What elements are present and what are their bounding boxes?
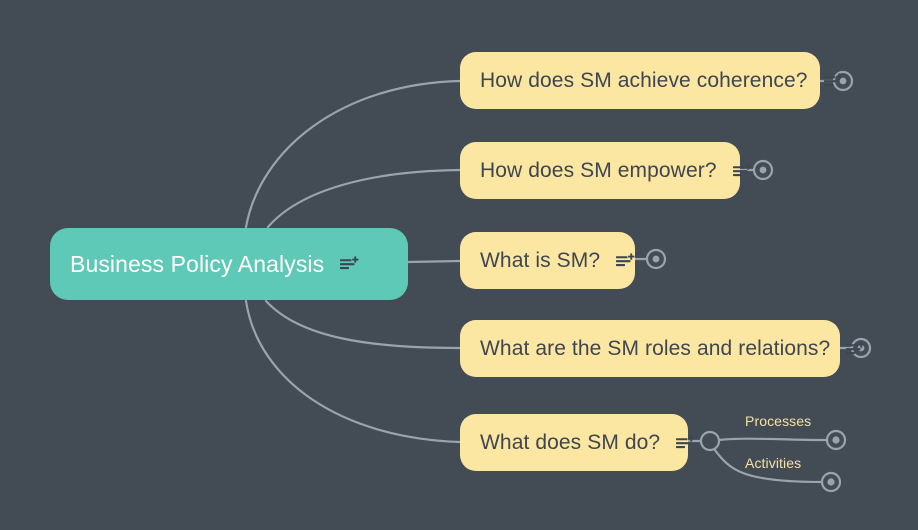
- edge-root-to-empower: [268, 170, 460, 227]
- connector-dot-processes-core: [832, 436, 839, 443]
- node-branch-what-does-sm-do[interactable]: What does SM do?: [460, 414, 688, 471]
- edge-root-to-coherence: [246, 81, 460, 227]
- connector-dot-empower-core: [760, 167, 767, 174]
- connector-dot-empower[interactable]: [754, 161, 772, 179]
- mindmap-canvas: Business Policy Analysis How does SM ach…: [0, 0, 918, 530]
- connector-dot-activities[interactable]: [822, 473, 840, 491]
- node-root-business-policy-analysis[interactable]: Business Policy Analysis: [50, 228, 408, 300]
- edge-root-to-whatdoes: [246, 301, 460, 442]
- leaf-label-activities[interactable]: Activities: [745, 455, 801, 471]
- edge-root-to-roles: [266, 301, 460, 348]
- node-root-label: Business Policy Analysis: [70, 251, 324, 278]
- connector-dot-whatissm-core: [653, 256, 660, 263]
- add-note-icon[interactable]: [676, 435, 695, 451]
- add-note-icon[interactable]: [733, 163, 752, 179]
- node-branch-what-is-sm[interactable]: What is SM?: [460, 232, 635, 289]
- edge-junction-to-processes: [719, 439, 827, 440]
- node-branch-how-does-sm-achieve-coherence[interactable]: How does SM achieve coherence?: [460, 52, 820, 109]
- junction-node-whatdoes[interactable]: [701, 432, 719, 450]
- node-branch-label: What is SM?: [480, 249, 600, 273]
- node-branch-label: How does SM achieve coherence?: [480, 69, 808, 93]
- edge-root-to-whatissm: [408, 261, 460, 262]
- add-note-icon[interactable]: [824, 73, 843, 89]
- node-branch-how-does-sm-empower[interactable]: How does SM empower?: [460, 142, 740, 199]
- node-branch-label: What does SM do?: [480, 431, 660, 455]
- node-branch-label: How does SM empower?: [480, 159, 717, 183]
- add-note-icon[interactable]: [846, 341, 865, 357]
- node-branch-label: What are the SM roles and relations?: [480, 337, 830, 361]
- connector-dot-whatissm[interactable]: [647, 250, 665, 268]
- connector-dot-processes[interactable]: [827, 431, 845, 449]
- node-branch-what-are-the-sm-roles-and-relations[interactable]: What are the SM roles and relations?: [460, 320, 840, 377]
- leaf-label-processes[interactable]: Processes: [745, 413, 811, 429]
- add-note-icon[interactable]: [340, 256, 359, 272]
- add-note-icon[interactable]: [616, 253, 635, 269]
- connector-dot-activities-core: [827, 478, 834, 485]
